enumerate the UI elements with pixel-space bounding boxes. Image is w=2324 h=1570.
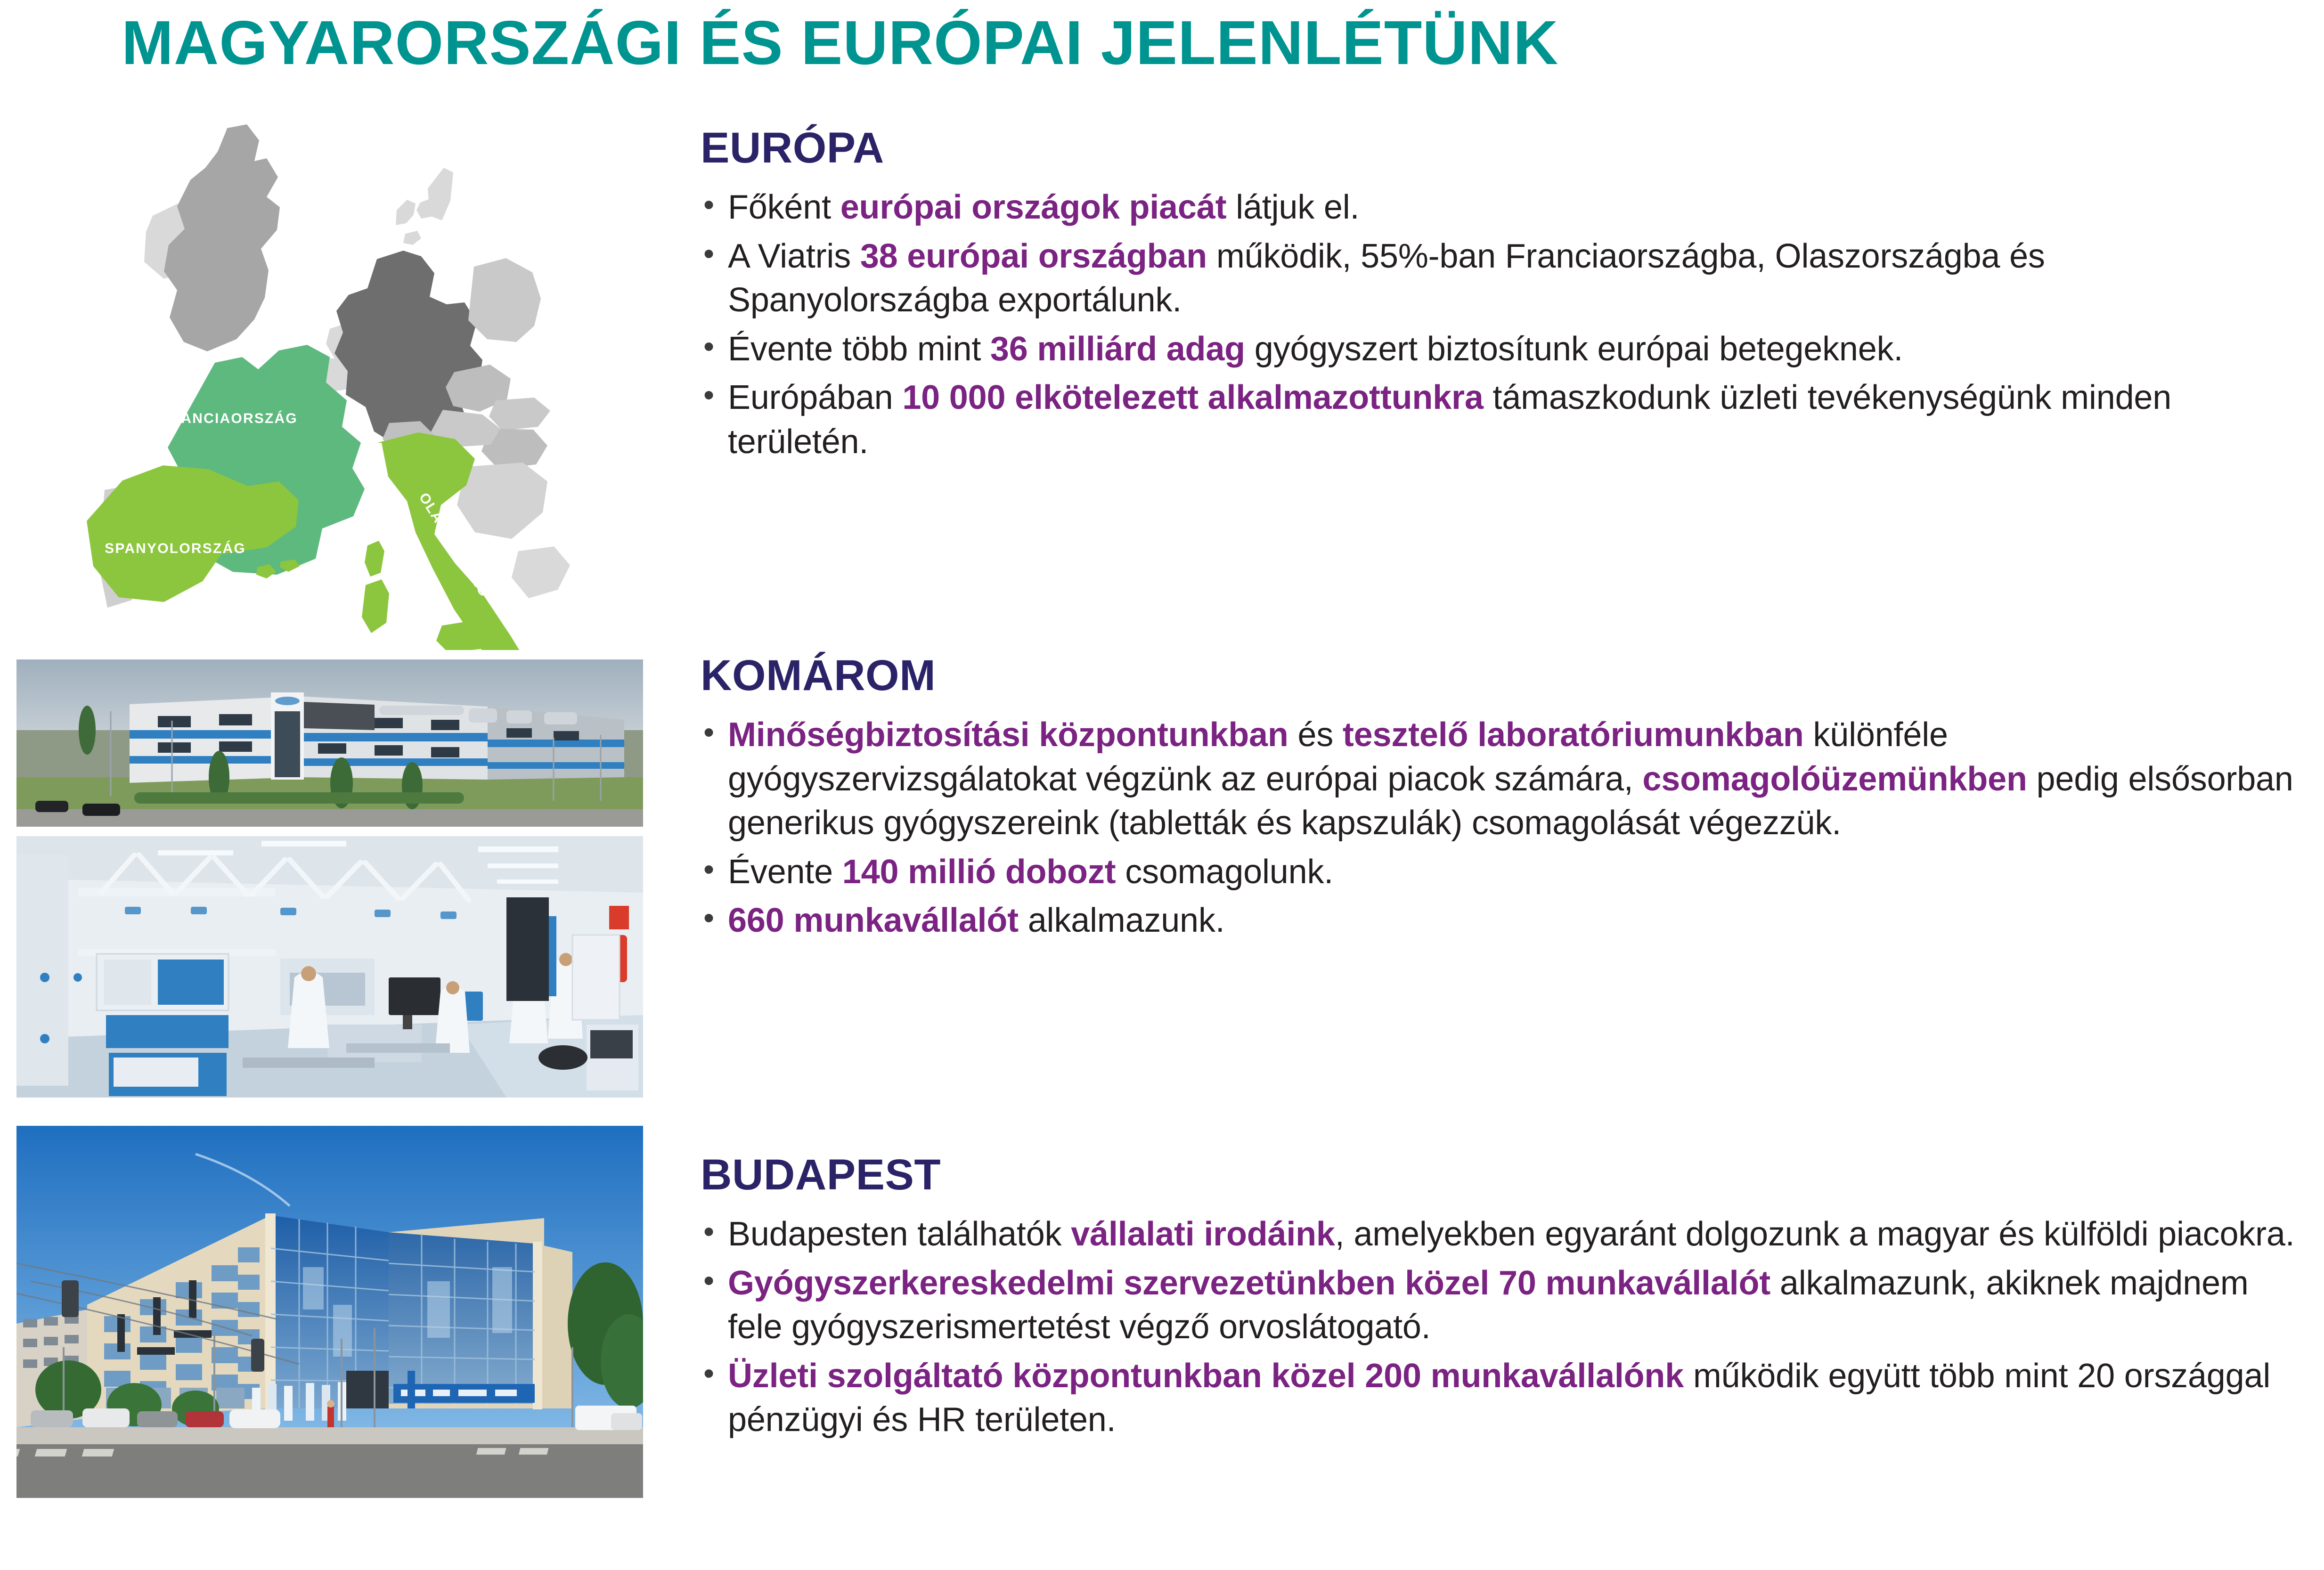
bullet-list-europa: Főként európai országok piacát látjuk el… [701,186,2302,464]
map-country-united-kingdom [164,124,280,351]
section-budapest: BUDAPEST Budapesten találhatók vállalati… [701,1153,2302,1447]
section-komarom: KOMÁROM Minőségbiztosítási központunkban… [701,654,2302,948]
map-country-balkans [457,463,547,539]
bullet-item: Évente több mint 36 milliárd adag gyógys… [701,327,2302,372]
europe-map: FRANCIAORSZÁG SPANYOLORSZÁG OLASZORSZÁG [47,118,645,650]
highlighted-text: Üzleti szolgáltató központunkban közel 2… [728,1357,1684,1395]
bullet-list-komarom: Minőségbiztosítási központunkban és tesz… [701,713,2302,943]
map-country-norway-sweden [428,168,453,220]
highlighted-text: vállalati irodáink [1071,1215,1335,1253]
bullet-item: Minőségbiztosítási központunkban és tesz… [701,713,2302,846]
section-heading-budapest: BUDAPEST [701,1153,2302,1196]
bullet-item: Főként európai országok piacát látjuk el… [701,186,2302,230]
bullet-item: Üzleti szolgáltató központunkban közel 2… [701,1354,2302,1442]
map-country-slovakia [489,398,550,431]
bullet-item: Európában 10 000 elkötelezett alkalmazot… [701,376,2302,464]
highlighted-text: 36 milliárd adag [990,330,1245,368]
map-label-france: FRANCIAORSZÁG [160,410,298,426]
highlighted-text: 660 munkavállalót [728,902,1019,939]
bullet-list-budapest: Budapesten találhatók vállalati irodáink… [701,1212,2302,1442]
map-island-corsica [365,541,384,577]
body-text: , amelyekben egyaránt dolgozunk a magyar… [1335,1215,2295,1253]
komarom-lab-photo [16,836,643,1098]
map-country-poland [468,258,541,342]
map-country-greece [512,546,570,598]
bullet-item: Budapesten találhatók vállalati irodáink… [701,1212,2302,1257]
budapest-office-photo [16,1126,643,1498]
bullet-item: 660 munkavállalót alkalmazunk. [701,899,2302,943]
body-text: Évente több mint [728,330,990,368]
map-label-spain: SPANYOLORSZÁG [105,540,246,556]
section-heading-europa: EURÓPA [701,126,2302,170]
body-text: csomagolunk. [1116,853,1333,891]
body-text: Európában [728,379,902,416]
body-text: gyógyszert biztosítunk európai betegekne… [1245,330,1903,368]
highlighted-text: európai országok piacát [840,188,1227,226]
komarom-plant-photo [16,659,643,827]
highlighted-text: Minőségbiztosítási központunkban [728,716,1288,754]
highlighted-text: tesztelő laboratóriumunkban [1343,716,1804,754]
highlighted-text: Gyógyszerkereskedelmi szervezetünkben kö… [728,1264,1770,1302]
section-europa: EURÓPA Főként európai országok piacát lá… [701,126,2302,469]
bullet-item: Gyógyszerkereskedelmi szervezetünkben kö… [701,1261,2302,1350]
body-text: Évente [728,853,842,891]
body-text: látjuk el. [1226,188,1359,226]
highlighted-text: 10 000 elkötelezett alkalmazottunkra [902,379,1483,416]
bullet-item: A Viatris 38 európai országban működik, … [701,235,2302,323]
highlighted-text: 38 európai országban [860,237,1207,275]
body-text: Budapesten találhatók [728,1215,1071,1253]
highlighted-text: csomagolóüzemünkben [1642,760,2027,798]
body-text: A Viatris [728,237,860,275]
section-heading-komarom: KOMÁROM [701,654,2302,697]
highlighted-text: 140 millió dobozt [842,853,1116,891]
bullet-item: Évente 140 millió dobozt csomagolunk. [701,850,2302,895]
page-title: MAGYARORSZÁGI ÉS EURÓPAI JELENLÉTÜNK [122,8,1558,77]
body-text: alkalmazunk. [1019,902,1225,939]
map-island-sardinia [362,579,389,633]
map-country-spain [87,465,299,602]
body-text: és [1288,716,1343,754]
body-text: Főként [728,188,840,226]
